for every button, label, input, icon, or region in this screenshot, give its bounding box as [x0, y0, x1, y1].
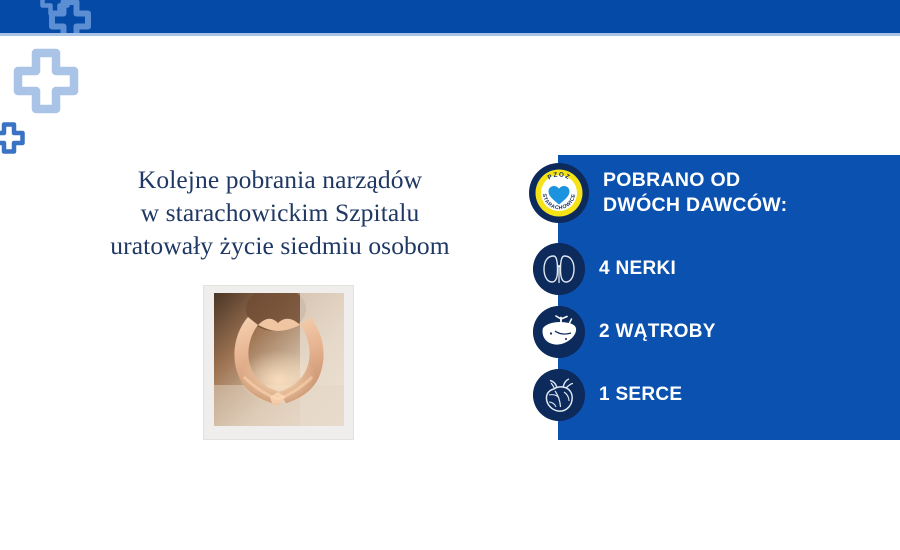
- panel-title-line-2: DWÓCH DAWCÓW:: [603, 193, 787, 218]
- list-item-label: 4 NERKI: [599, 258, 676, 280]
- headline-line-2: w starachowickim Szpitalu: [40, 196, 520, 229]
- cross-icon-small-left: [0, 121, 26, 155]
- panel-header-row: PZOZ STARACHOWICE POBRANO OD DWÓCH DAWCÓ…: [558, 163, 787, 223]
- top-blue-band: [0, 0, 900, 33]
- list-item-kidneys: 4 NERKI: [558, 243, 676, 295]
- page-title: Kolejne pobrania narządów w starachowick…: [40, 163, 520, 262]
- organ-summary-panel: PZOZ STARACHOWICE POBRANO OD DWÓCH DAWCÓ…: [558, 155, 900, 440]
- pzoz-starachowice-logo: PZOZ STARACHOWICE: [529, 163, 589, 223]
- headline-line-3: uratowały życie siedmiu osobom: [40, 229, 520, 262]
- kidneys-icon: [533, 243, 585, 295]
- anatomical-heart-icon: [533, 369, 585, 421]
- list-item-liver: 2 WĄTROBY: [558, 306, 716, 358]
- list-item-label: 2 WĄTROBY: [599, 321, 716, 343]
- list-item-label: 1 SERCE: [599, 384, 682, 406]
- list-item-heart: 1 SERCE: [558, 369, 682, 421]
- top-band-underline: [0, 33, 900, 36]
- photo-frame: [203, 285, 354, 440]
- headline-line-1: Kolejne pobrania narządów: [40, 163, 520, 196]
- panel-title: POBRANO OD DWÓCH DAWCÓW:: [603, 168, 787, 218]
- hands-forming-heart-photo: [214, 293, 344, 426]
- cross-icon-band-large: [48, 0, 92, 33]
- cross-icon-big: [13, 48, 79, 114]
- panel-title-line-1: POBRANO OD: [603, 168, 787, 193]
- liver-icon: [533, 306, 585, 358]
